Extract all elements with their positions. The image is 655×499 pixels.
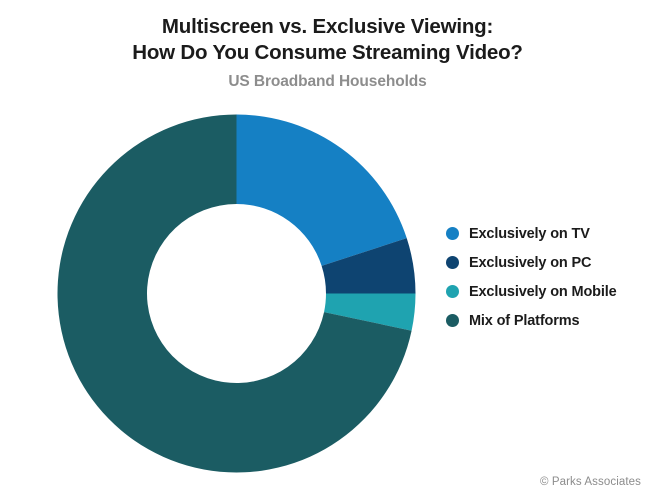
legend-item-label: Mix of Platforms bbox=[469, 313, 579, 329]
chart-page: Multiscreen vs. Exclusive Viewing: How D… bbox=[0, 0, 655, 499]
chart-title-line-2: How Do You Consume Streaming Video? bbox=[0, 40, 655, 66]
legend-swatch-dot-icon bbox=[446, 314, 459, 327]
legend-item[interactable]: Exclusively on PC bbox=[446, 248, 651, 277]
legend-item[interactable]: Exclusively on Mobile bbox=[446, 277, 651, 306]
donut-slice[interactable]: Exclusively on TV: 20% bbox=[237, 115, 407, 266]
legend-item[interactable]: Mix of Platforms bbox=[446, 306, 651, 335]
legend-item-label: Exclusively on Mobile bbox=[469, 284, 617, 300]
legend-item-label: Exclusively on PC bbox=[469, 255, 591, 271]
donut-chart: Exclusively on TV: 20%Exclusively on PC:… bbox=[57, 114, 416, 473]
legend-swatch-dot-icon bbox=[446, 256, 459, 269]
legend-swatch-dot-icon bbox=[446, 285, 459, 298]
donut-chart-svg: Exclusively on TV: 20%Exclusively on PC:… bbox=[57, 114, 416, 473]
chart-title-line-1: Multiscreen vs. Exclusive Viewing: bbox=[0, 14, 655, 40]
chart-header: Multiscreen vs. Exclusive Viewing: How D… bbox=[0, 14, 655, 92]
legend-item[interactable]: Exclusively on TV bbox=[446, 219, 651, 248]
copyright-credit: © Parks Associates bbox=[540, 476, 641, 488]
legend-swatch-dot-icon bbox=[446, 227, 459, 240]
donut-slice-group: Exclusively on TV: 20%Exclusively on PC:… bbox=[57, 115, 415, 473]
chart-subtitle: US Broadband Households bbox=[0, 72, 655, 92]
chart-legend: Exclusively on TVExclusively on PCExclus… bbox=[446, 219, 651, 335]
legend-item-label: Exclusively on TV bbox=[469, 226, 590, 242]
